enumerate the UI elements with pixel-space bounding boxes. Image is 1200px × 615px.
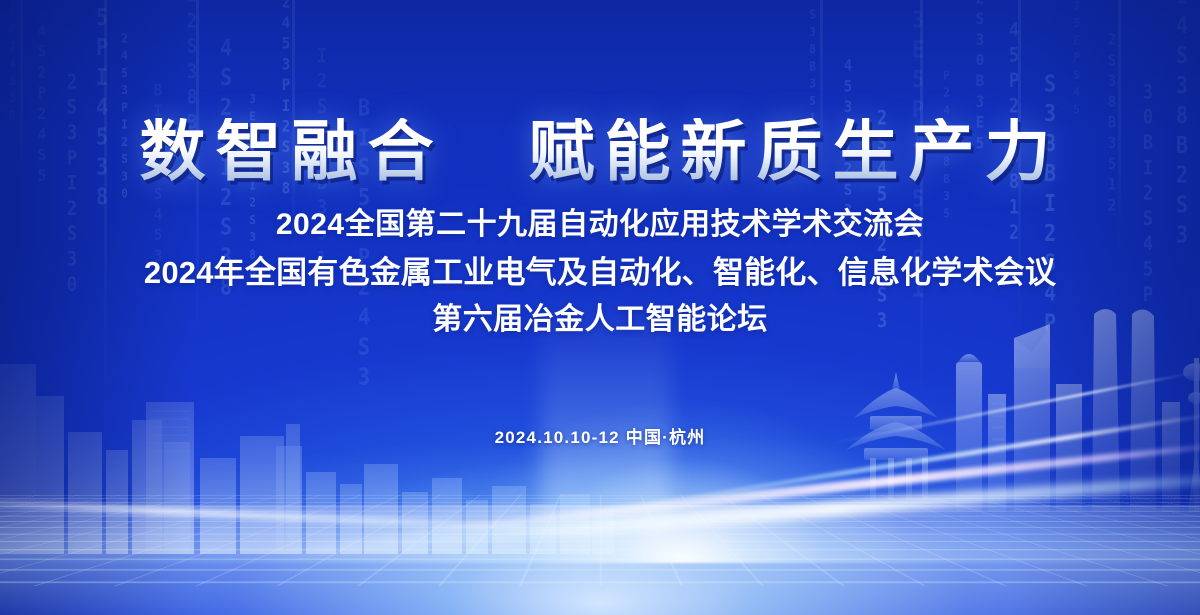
poster-content: 数智融合 赋能新质生产力 2024全国第二十九届自动化应用技术学术交流会 202… (0, 0, 1200, 615)
poster-main-title: 数智融合 赋能新质生产力 (139, 118, 1060, 184)
poster-subtitle-3: 第六届冶金人工智能论坛 (432, 305, 768, 335)
conference-poster: 3E5PI45384S2P24S52S3PI2S3035PI45382453PI… (0, 0, 1200, 615)
poster-subtitle-1: 2024全国第二十九届自动化应用技术学术交流会 (276, 210, 924, 240)
poster-subtitle-2: 2024年全国有色金属工业电气及自动化、智能化、信息化学术会议 (144, 257, 1056, 288)
poster-date-location: 2024.10.10-12 中国·杭州 (495, 423, 706, 448)
